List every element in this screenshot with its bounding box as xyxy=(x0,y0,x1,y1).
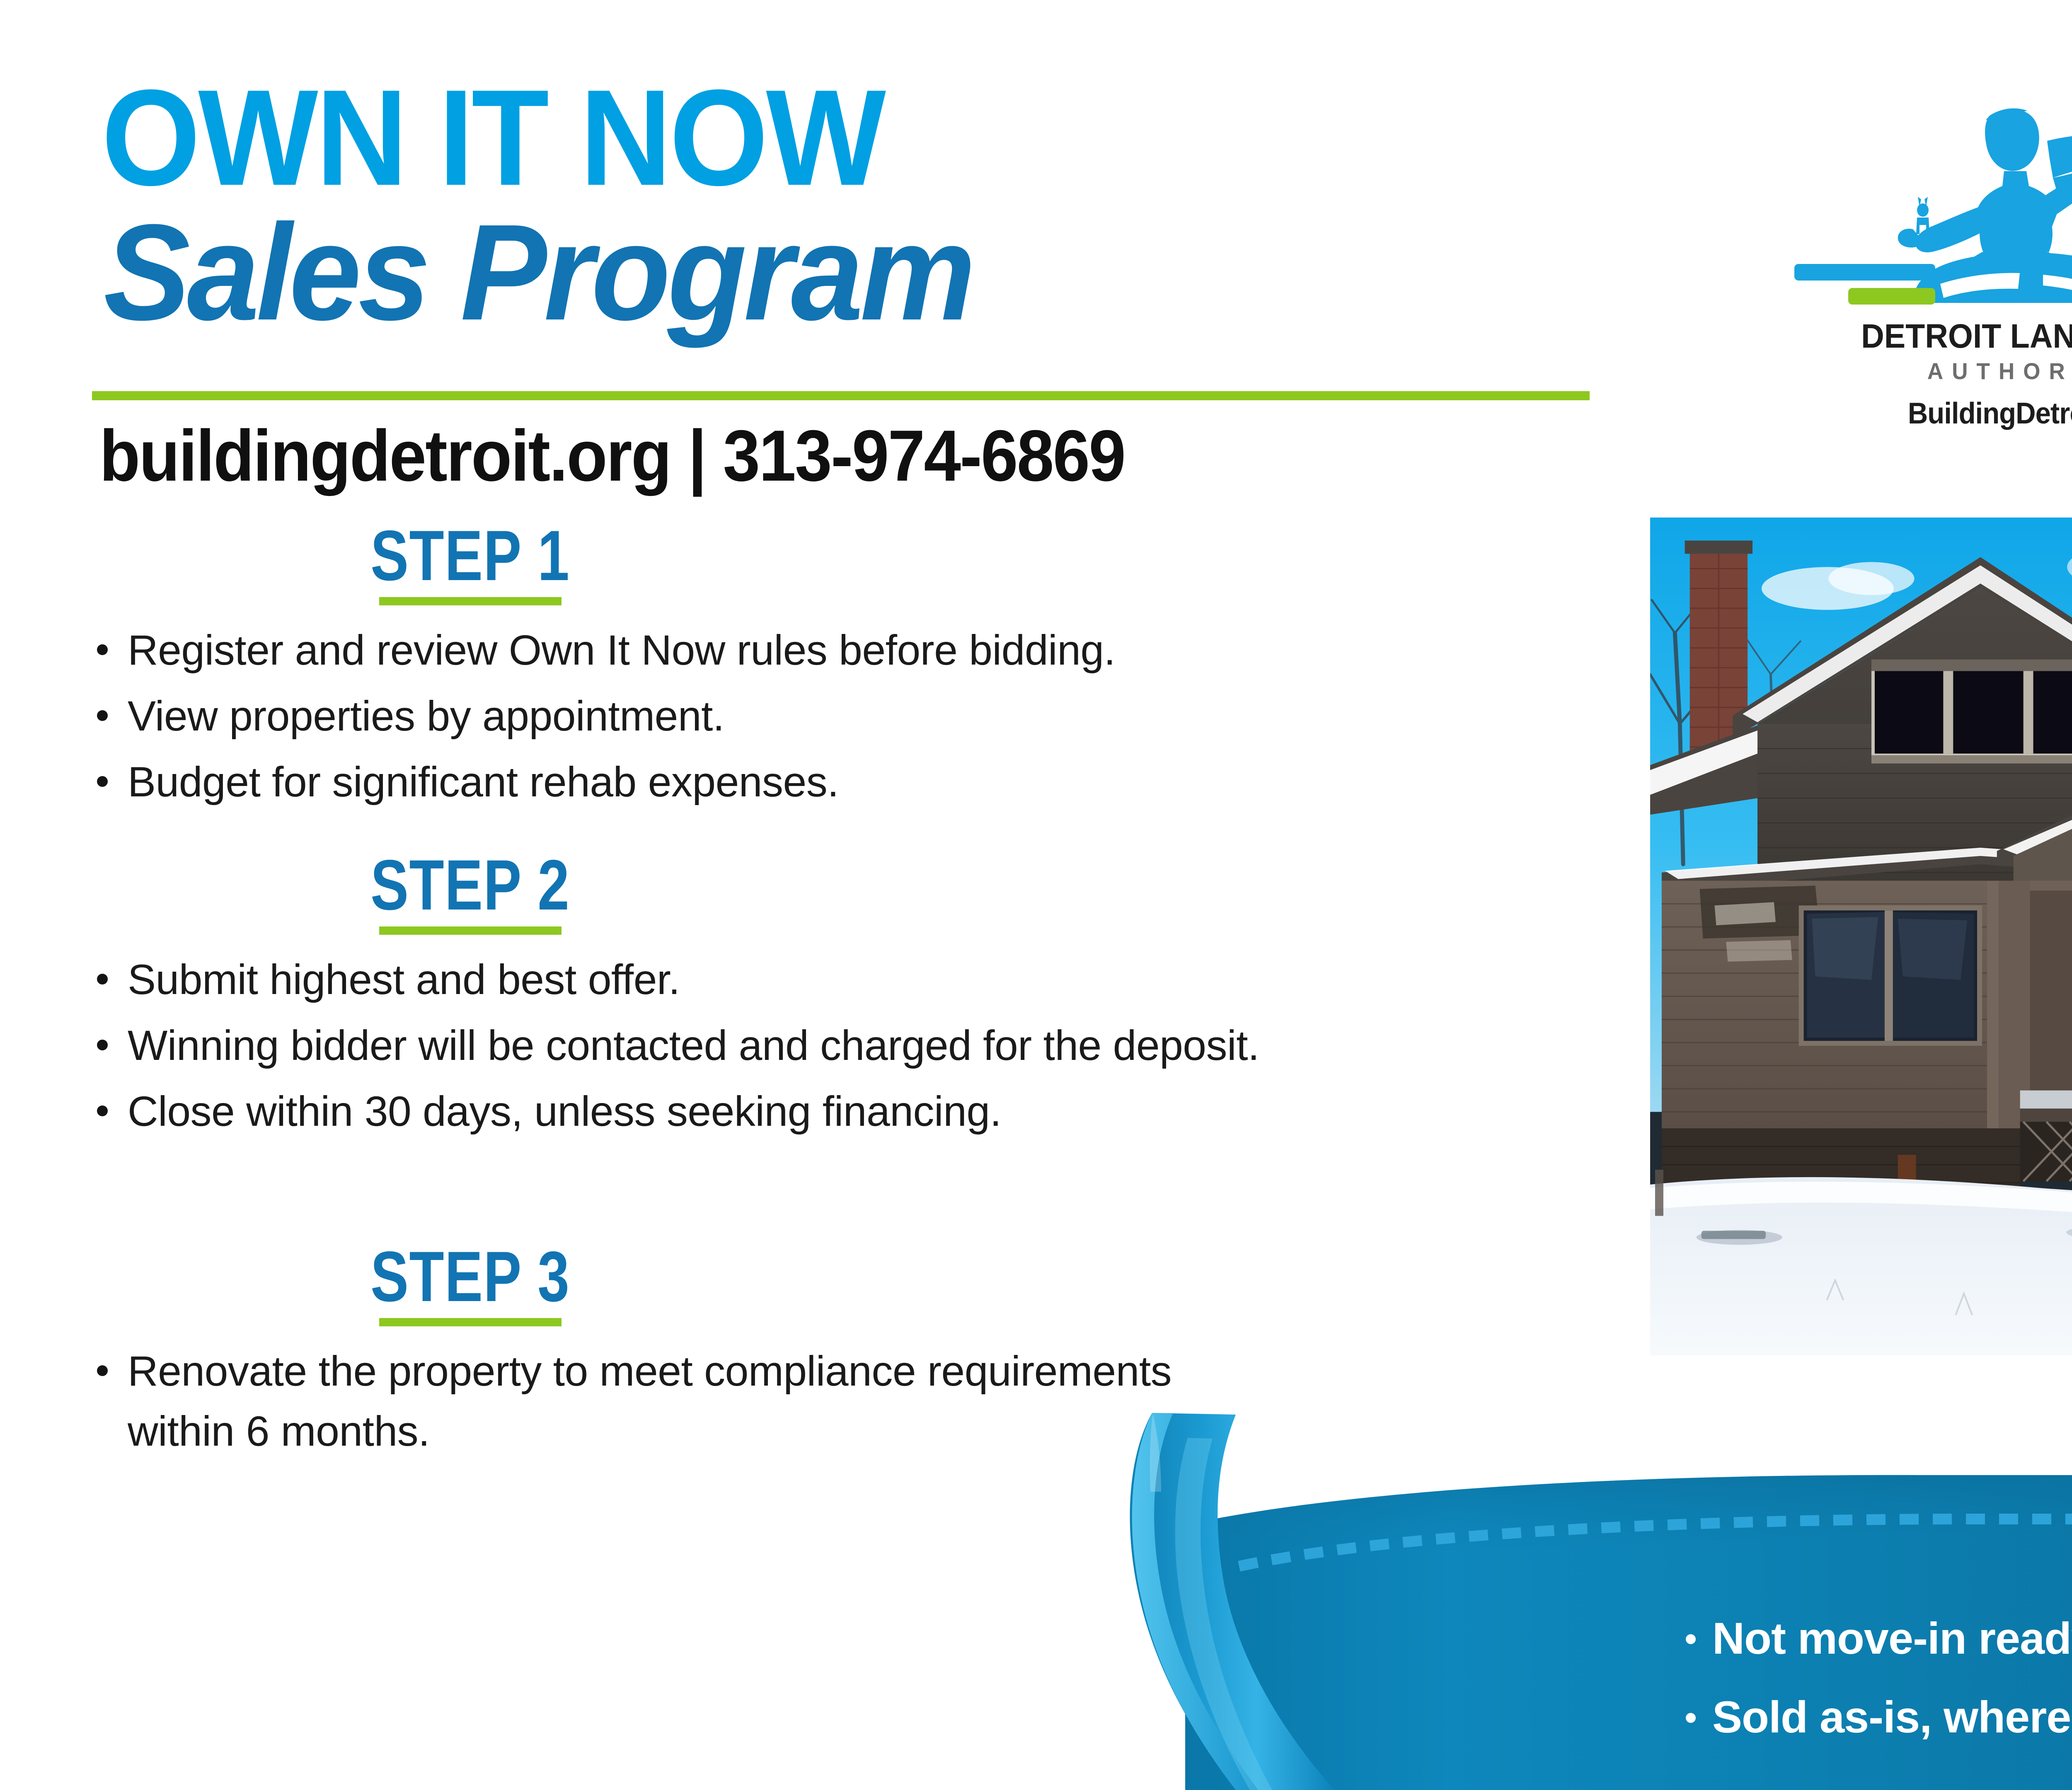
step-bullets-1: Register and review Own It Now rules bef… xyxy=(0,620,1542,812)
list-item: Close within 30 days, unless seeking fin… xyxy=(83,1081,1542,1142)
step-bullets-3: Renovate the property to meet compliance… xyxy=(0,1341,1542,1461)
step-title-2: STEP 2 xyxy=(370,849,570,921)
list-item: Budget for significant rehab expenses. xyxy=(83,752,1542,812)
step-underline-1 xyxy=(379,597,562,605)
step-header-3: STEP 3 xyxy=(197,1241,744,1326)
step-underline-2 xyxy=(379,926,562,935)
page-title-line1: OWN IT NOW xyxy=(102,73,884,203)
page-title-line2: Sales Program xyxy=(104,207,973,337)
ribbon-bullet-list: Not move-in ready Sold as-is, where-is xyxy=(1682,1616,2072,1773)
list-item: Sold as-is, where-is xyxy=(1682,1695,2072,1739)
step-title-3: STEP 3 xyxy=(370,1241,570,1312)
flyer-page: OWN IT NOW Sales Program buildingdetroit… xyxy=(0,0,2072,1790)
list-item: Not move-in ready xyxy=(1682,1616,2072,1661)
step-title-1: STEP 1 xyxy=(370,520,570,591)
logo-bars xyxy=(1794,264,2072,305)
logo-subtitle: AUTHORITY xyxy=(1806,358,2072,385)
detroit-land-bank-logo: DETROIT LAND BANK AUTHORITY BuildingDetr… xyxy=(1794,77,2072,450)
step-section-1: STEP 1 Register and review Own It Now ru… xyxy=(0,520,1542,818)
logo-url: BuildingDetroit.org xyxy=(1811,397,2072,431)
step-bullets-2: Submit highest and best offer. Winning b… xyxy=(0,950,1542,1141)
step-underline-3 xyxy=(379,1318,562,1326)
step-section-2: STEP 2 Submit highest and best offer. Wi… xyxy=(0,849,1542,1147)
list-item: View properties by appointment. xyxy=(83,686,1542,746)
step-section-3: STEP 3 Renovate the property to meet com… xyxy=(0,1241,1542,1467)
step-header-1: STEP 1 xyxy=(197,520,744,605)
contact-line[interactable]: buildingdetroit.org | 313-974-6869 xyxy=(99,414,1125,498)
logo-bar-blue-left xyxy=(1794,264,1935,281)
logo-bar-green-left xyxy=(1848,288,1935,305)
header-divider xyxy=(92,391,1590,400)
list-item: Winning bidder will be contacted and cha… xyxy=(83,1016,1354,1076)
list-item: Register and review Own It Now rules bef… xyxy=(83,620,1542,680)
list-item: Renovate the property to meet compliance… xyxy=(83,1341,1213,1461)
step-header-2: STEP 2 xyxy=(197,849,744,935)
property-photo xyxy=(1650,518,2072,1355)
logo-name: DETROIT LAND BANK xyxy=(1808,317,2072,356)
list-item: Submit highest and best offer. xyxy=(83,950,1542,1010)
